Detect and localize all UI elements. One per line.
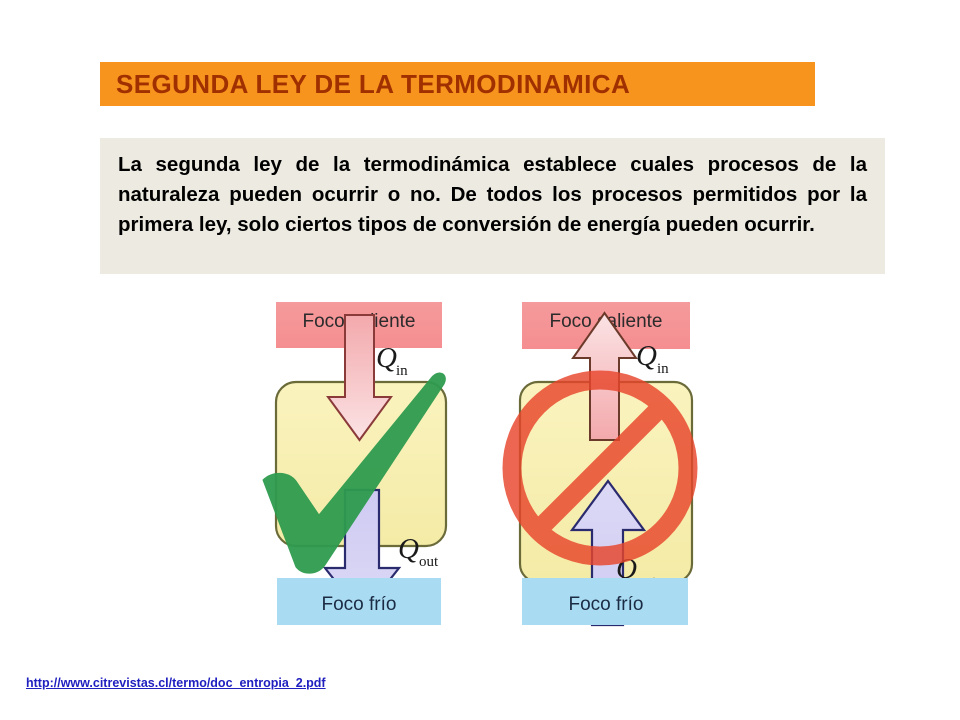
thermodynamics-figure: Foco caliente Q in Q out Foco frío: [0, 285, 960, 640]
svg-text:Q: Q: [636, 340, 657, 372]
page-title: SEGUNDA LEY DE LA TERMODINAMICA: [116, 69, 630, 100]
allowed-process-diagram: Foco caliente Q in Q out Foco frío: [263, 302, 446, 625]
body-text-panel: La segunda ley de la termodinámica estab…: [100, 138, 885, 274]
body-paragraph: La segunda ley de la termodinámica estab…: [118, 150, 867, 240]
svg-text:out: out: [419, 554, 439, 570]
cold-reservoir-label-right: Foco frío: [569, 594, 644, 615]
cold-reservoir-label-left: Foco frío: [322, 594, 397, 615]
svg-text:in: in: [396, 363, 408, 379]
svg-text:in: in: [657, 361, 669, 377]
svg-text:Q: Q: [376, 342, 397, 374]
svg-text:Q: Q: [398, 533, 419, 565]
slide-title-band: SEGUNDA LEY DE LA TERMODINAMICA: [100, 62, 815, 106]
source-url-link[interactable]: http://www.citrevistas.cl/termo/doc_entr…: [26, 676, 326, 690]
forbidden-process-diagram: Foco caliente Q in Q out Foco frío: [512, 302, 692, 625]
